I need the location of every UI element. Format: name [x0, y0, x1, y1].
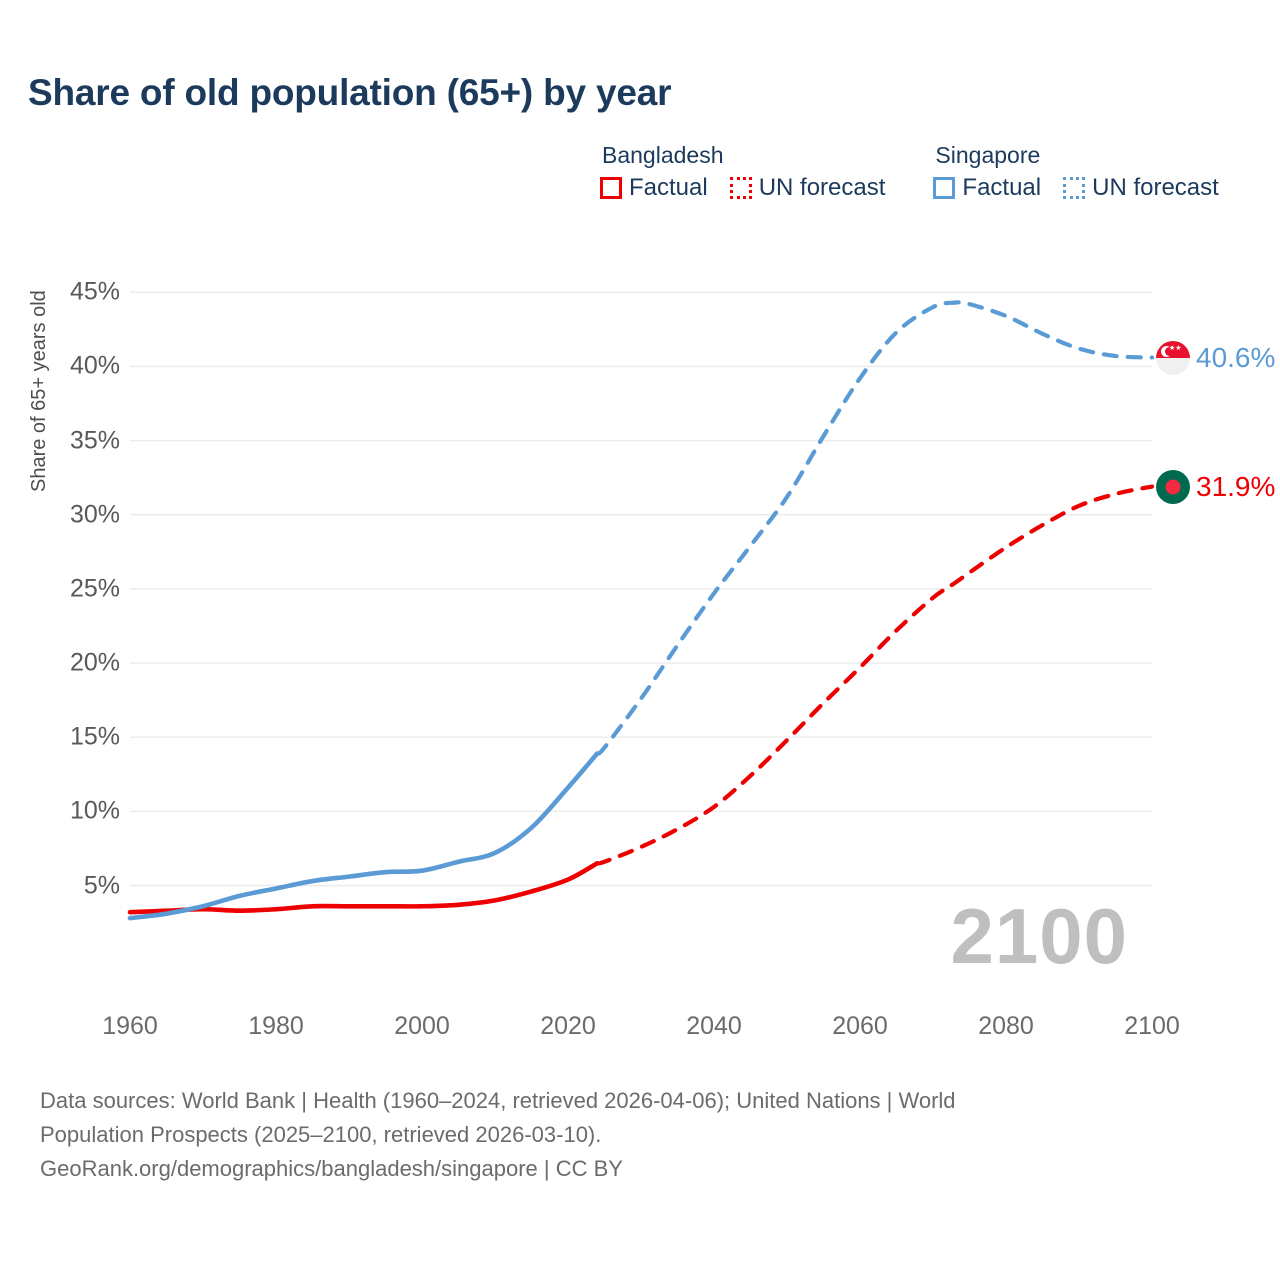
legend-country-label: Singapore [933, 143, 1218, 168]
plot-area [130, 270, 1152, 930]
legend-item-label: UN forecast [1092, 174, 1219, 202]
footer-sources: Data sources: World Bank | Health (1960–… [40, 1084, 1220, 1186]
x-axis-tick-label: 1980 [248, 1012, 304, 1041]
singapore-endpoint[interactable]: ★★ 40.6% [1156, 341, 1275, 375]
y-axis-tick-label: 45% [30, 278, 120, 307]
x-axis-tick-label: 2100 [1124, 1012, 1180, 1041]
legend-item-bangladesh-forecast[interactable]: UN forecast [730, 174, 886, 202]
singapore-flag-icon: ★★ [1156, 341, 1190, 375]
x-axis-tick-label: 1960 [102, 1012, 158, 1041]
y-axis-tick-label: 30% [30, 500, 120, 529]
y-axis-tick-label: 15% [30, 723, 120, 752]
legend-item-singapore-forecast[interactable]: UN forecast [1063, 174, 1219, 202]
bangladesh-endpoint[interactable]: 31.9% [1156, 470, 1275, 504]
x-axis-tick-label: 2060 [832, 1012, 888, 1041]
legend-item-bangladesh-factual[interactable]: Factual [600, 174, 708, 202]
dotted-line-swatch-icon [1063, 177, 1085, 199]
x-axis-ticks: 19601980200020202040206020802100 [0, 1012, 1280, 1052]
series-lines [130, 302, 1152, 918]
legend-item-label: Factual [629, 174, 708, 202]
y-axis-tick-label: 25% [30, 574, 120, 603]
bangladesh-flag-icon [1156, 470, 1190, 504]
footer-line-3: GeoRank.org/demographics/bangladesh/sing… [40, 1152, 1220, 1186]
x-axis-tick-label: 2040 [686, 1012, 742, 1041]
y-axis-tick-label: 40% [30, 352, 120, 381]
solid-line-swatch-icon [933, 177, 955, 199]
singapore-endpoint-value: 40.6% [1196, 342, 1275, 374]
legend-item-singapore-factual[interactable]: Factual [933, 174, 1041, 202]
bangladesh-endpoint-value: 31.9% [1196, 471, 1275, 503]
legend-country-label: Bangladesh [600, 143, 885, 168]
y-axis-tick-label: 10% [30, 797, 120, 826]
x-axis-tick-label: 2080 [978, 1012, 1034, 1041]
legend-item-label: Factual [962, 174, 1041, 202]
y-axis-tick-label: 5% [30, 871, 120, 900]
footer-line-1: Data sources: World Bank | Health (1960–… [40, 1084, 1220, 1118]
legend-group-singapore: Singapore Factual UN forecast [933, 143, 1218, 202]
y-axis-tick-label: 20% [30, 649, 120, 678]
legend-item-label: UN forecast [759, 174, 886, 202]
page-title: Share of old population (65+) by year [28, 72, 671, 114]
chart-legend: Bangladesh Factual UN forecast Singapore… [600, 143, 1219, 202]
chart-canvas [130, 270, 1152, 930]
x-axis-tick-label: 2020 [540, 1012, 596, 1041]
singapore-forecast-line [597, 302, 1152, 753]
gridlines [130, 292, 1152, 885]
dotted-line-swatch-icon [730, 177, 752, 199]
year-watermark: 2100 [950, 897, 1128, 975]
y-axis-tick-label: 35% [30, 426, 120, 455]
solid-line-swatch-icon [600, 177, 622, 199]
footer-line-2: Population Prospects (2025–2100, retriev… [40, 1118, 1220, 1152]
x-axis-tick-label: 2000 [394, 1012, 450, 1041]
bangladesh-forecast-line [597, 487, 1152, 864]
legend-group-bangladesh: Bangladesh Factual UN forecast [600, 143, 885, 202]
